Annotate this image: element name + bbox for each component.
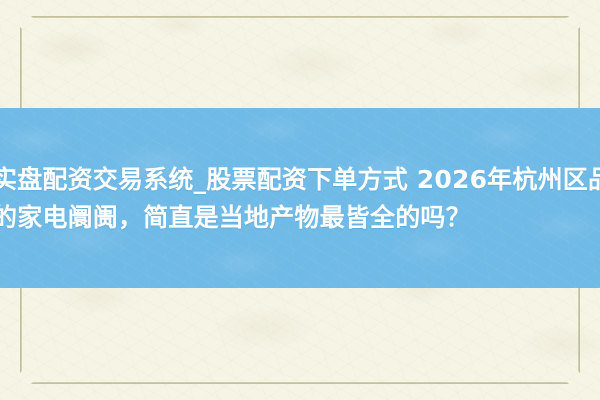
headline-clip-region: 实盘配资交易系统_股票配资下单方式 2026年杭州区品类超千种的家电阛阓，简直是… [0, 108, 600, 288]
headline-text: 实盘配资交易系统_股票配资下单方式 2026年杭州区品类超千种的家电阛阓，简直是… [0, 161, 600, 237]
poster-canvas: 实盘配资交易系统_股票配资下单方式 2026年杭州区品类超千种的家电阛阓，简直是… [0, 0, 600, 400]
